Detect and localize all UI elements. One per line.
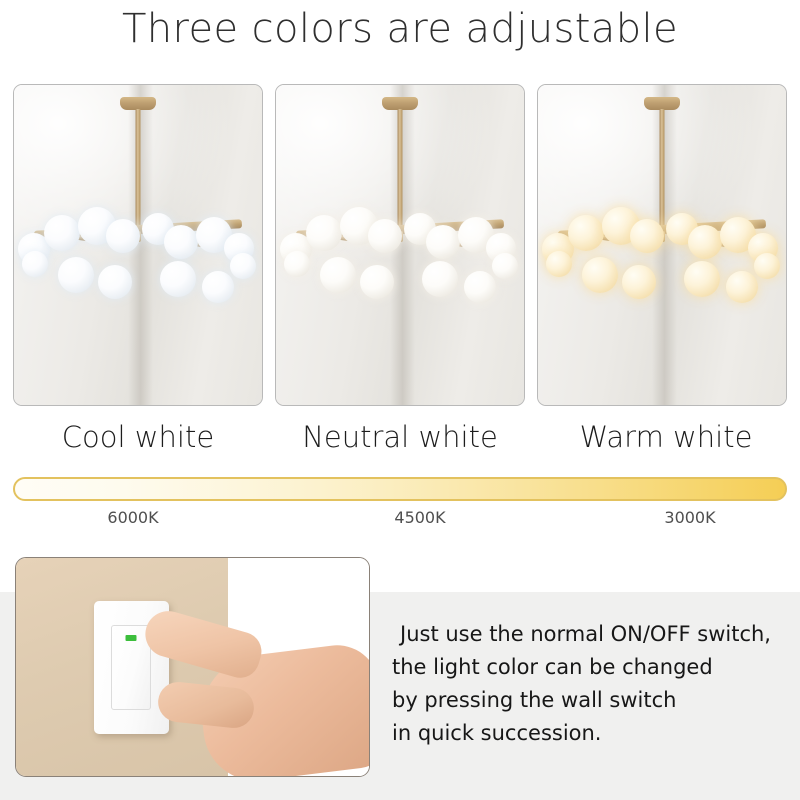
light-globe bbox=[98, 265, 132, 299]
light-globe bbox=[160, 261, 196, 297]
light-globe bbox=[106, 219, 140, 253]
light-globe bbox=[306, 215, 342, 251]
down-rod bbox=[398, 109, 403, 227]
light-globe bbox=[360, 265, 394, 299]
light-globe bbox=[164, 225, 198, 259]
light-globe bbox=[726, 271, 758, 303]
panel-warm-white[interactable] bbox=[537, 84, 787, 406]
panel-cool-white[interactable] bbox=[13, 84, 263, 406]
led-indicator-icon bbox=[126, 635, 137, 641]
light-globe bbox=[44, 215, 80, 251]
down-rod bbox=[136, 109, 141, 227]
panel-neutral-white[interactable] bbox=[275, 84, 525, 406]
light-globe bbox=[422, 261, 458, 297]
product-feature-page: Three colors are adjustable bbox=[0, 0, 800, 800]
light-globe bbox=[320, 257, 356, 293]
kelvin-label-4500k: 4500K bbox=[394, 508, 445, 527]
instruction-line-1: Just use the normal ON/OFF switch, bbox=[392, 618, 792, 651]
light-globe bbox=[622, 265, 656, 299]
page-title: Three colors are adjustable bbox=[0, 6, 800, 52]
light-globe bbox=[754, 253, 780, 279]
kelvin-label-3000k: 3000K bbox=[664, 508, 715, 527]
light-globe bbox=[464, 271, 496, 303]
hand-graphic bbox=[144, 613, 370, 777]
instruction-text: Just use the normal ON/OFF switch, the l… bbox=[392, 618, 792, 750]
chandelier-neutral-white bbox=[276, 85, 524, 405]
light-globe bbox=[426, 225, 460, 259]
light-globe bbox=[492, 253, 518, 279]
instruction-line-3: by pressing the wall switch bbox=[392, 684, 792, 717]
light-globe bbox=[368, 219, 402, 253]
light-globe bbox=[22, 251, 48, 277]
light-globe bbox=[688, 225, 722, 259]
caption-neutral-white: Neutral white bbox=[275, 420, 525, 454]
light-globe bbox=[582, 257, 618, 293]
instruction-line-2: the light color can be changed bbox=[392, 651, 792, 684]
panel-captions: Cool white Neutral white Warm white bbox=[13, 420, 787, 460]
caption-warm-white: Warm white bbox=[541, 420, 791, 454]
light-globe bbox=[546, 251, 572, 277]
color-preview-panels bbox=[13, 84, 787, 406]
light-globe bbox=[630, 219, 664, 253]
light-globe bbox=[284, 251, 310, 277]
instruction-line-4: in quick succession. bbox=[392, 717, 792, 750]
kelvin-scale-labels: 6000K 4500K 3000K bbox=[0, 508, 800, 532]
light-globe bbox=[684, 261, 720, 297]
color-temperature-gradient-bar bbox=[13, 477, 787, 501]
light-globe bbox=[230, 253, 256, 279]
down-rod bbox=[660, 109, 665, 227]
chandelier-warm-white bbox=[538, 85, 786, 405]
chandelier-cool-white bbox=[14, 85, 262, 405]
light-globe bbox=[202, 271, 234, 303]
caption-cool-white: Cool white bbox=[13, 420, 263, 454]
index-finger bbox=[140, 606, 266, 683]
light-globe bbox=[58, 257, 94, 293]
light-globe bbox=[568, 215, 604, 251]
kelvin-label-6000k: 6000K bbox=[107, 508, 158, 527]
wall-switch-photo[interactable] bbox=[15, 557, 370, 777]
